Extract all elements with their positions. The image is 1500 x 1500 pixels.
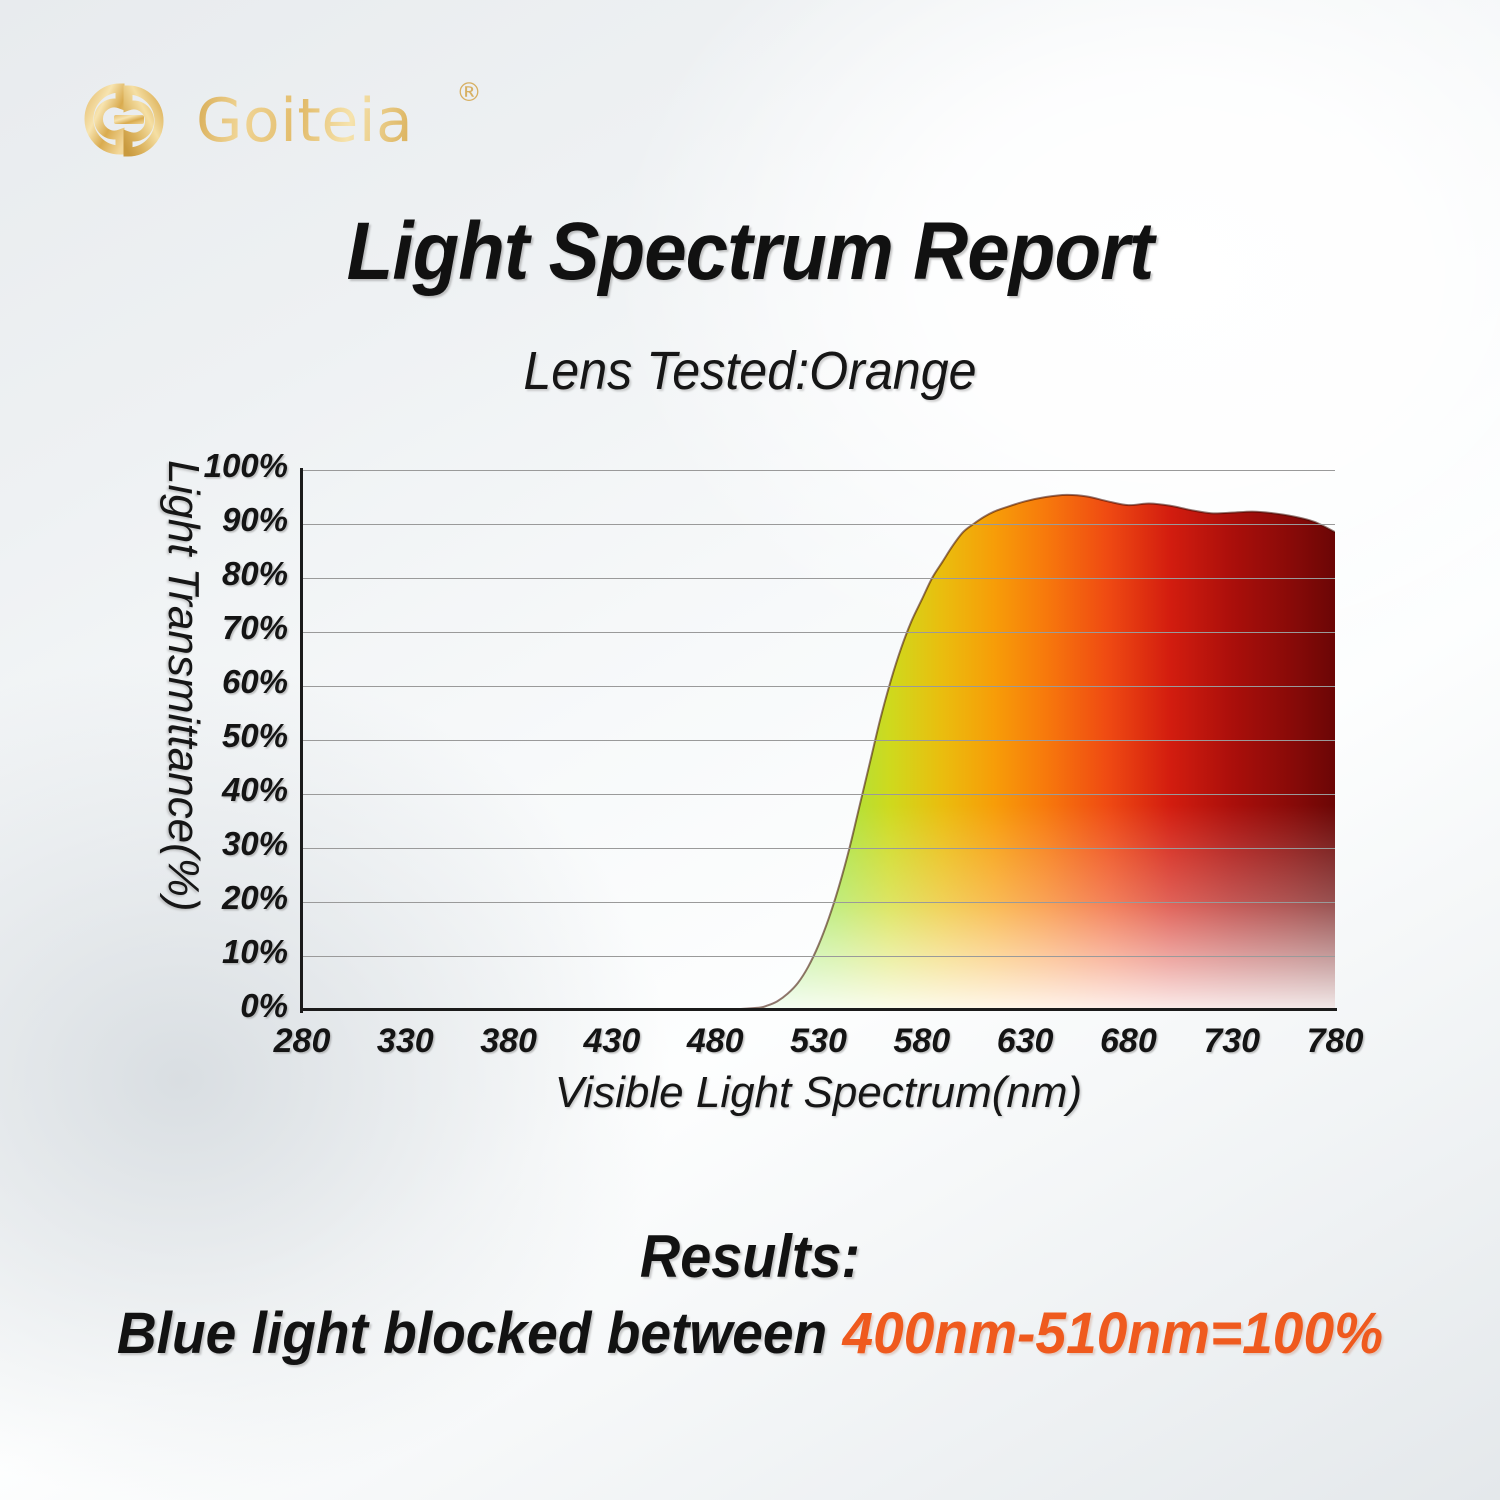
gridline [302, 848, 1335, 849]
y-axis-title: Light Transmittance(%) [158, 460, 208, 960]
x-axis-tick-label: 580 [862, 1022, 982, 1061]
brand-wordmark: Goiteia [196, 86, 413, 156]
y-axis-tick-label: 70% [222, 609, 288, 647]
gridline [302, 794, 1335, 795]
y-axis-tick-label: 0% [240, 987, 288, 1025]
y-axis-tick-label: 80% [222, 555, 288, 593]
y-axis-tick-label: 20% [222, 879, 288, 917]
y-axis-tick-label: 90% [222, 501, 288, 539]
transmittance-area-curve [302, 470, 1335, 1010]
results-prefix-text: Blue light blocked between [117, 1301, 843, 1366]
brand-logo: Goiteia ® [68, 62, 488, 178]
gridline [302, 956, 1335, 957]
gridline [302, 524, 1335, 525]
y-axis-tick-label: 50% [222, 717, 288, 755]
registered-trademark-icon: ® [456, 78, 482, 108]
x-axis-tick-label: 730 [1172, 1022, 1292, 1061]
x-axis-tick-label: 280 [242, 1022, 362, 1061]
gridline [302, 740, 1335, 741]
x-axis-tick-label: 480 [655, 1022, 775, 1061]
page-title: Light Spectrum Report [53, 205, 1448, 299]
y-axis-tick-label: 10% [222, 933, 288, 971]
gridline [302, 902, 1335, 903]
gridline [302, 578, 1335, 579]
x-axis-tick-label: 630 [965, 1022, 1085, 1061]
x-axis-title: Visible Light Spectrum(nm) [302, 1068, 1335, 1118]
gridline [302, 470, 1335, 471]
x-axis-tick-label: 780 [1275, 1022, 1395, 1061]
y-axis-tick-label: 30% [222, 825, 288, 863]
results-highlight-text: 400nm-510nm=100% [842, 1301, 1383, 1366]
x-axis-tick-label: 430 [552, 1022, 672, 1061]
y-axis-tick-label: 100% [204, 447, 288, 485]
gridline [302, 632, 1335, 633]
results-statement: Blue light blocked between 400nm-510nm=1… [38, 1300, 1463, 1367]
x-axis-tick-label: 380 [449, 1022, 569, 1061]
page-subtitle: Lens Tested:Orange [53, 340, 1448, 402]
gridline [302, 686, 1335, 687]
y-axis-tick-label: 40% [222, 771, 288, 809]
x-axis-tick-label: 330 [345, 1022, 465, 1061]
results-label: Results: [53, 1222, 1448, 1291]
x-axis-tick-label: 530 [759, 1022, 879, 1061]
y-axis-line [300, 468, 303, 1013]
goiteia-monogram-icon [68, 70, 180, 170]
y-axis-tick-label: 60% [222, 663, 288, 701]
x-axis-line [300, 1008, 1337, 1011]
x-axis-tick-label: 680 [1068, 1022, 1188, 1061]
chart-plot-area [302, 470, 1335, 1010]
